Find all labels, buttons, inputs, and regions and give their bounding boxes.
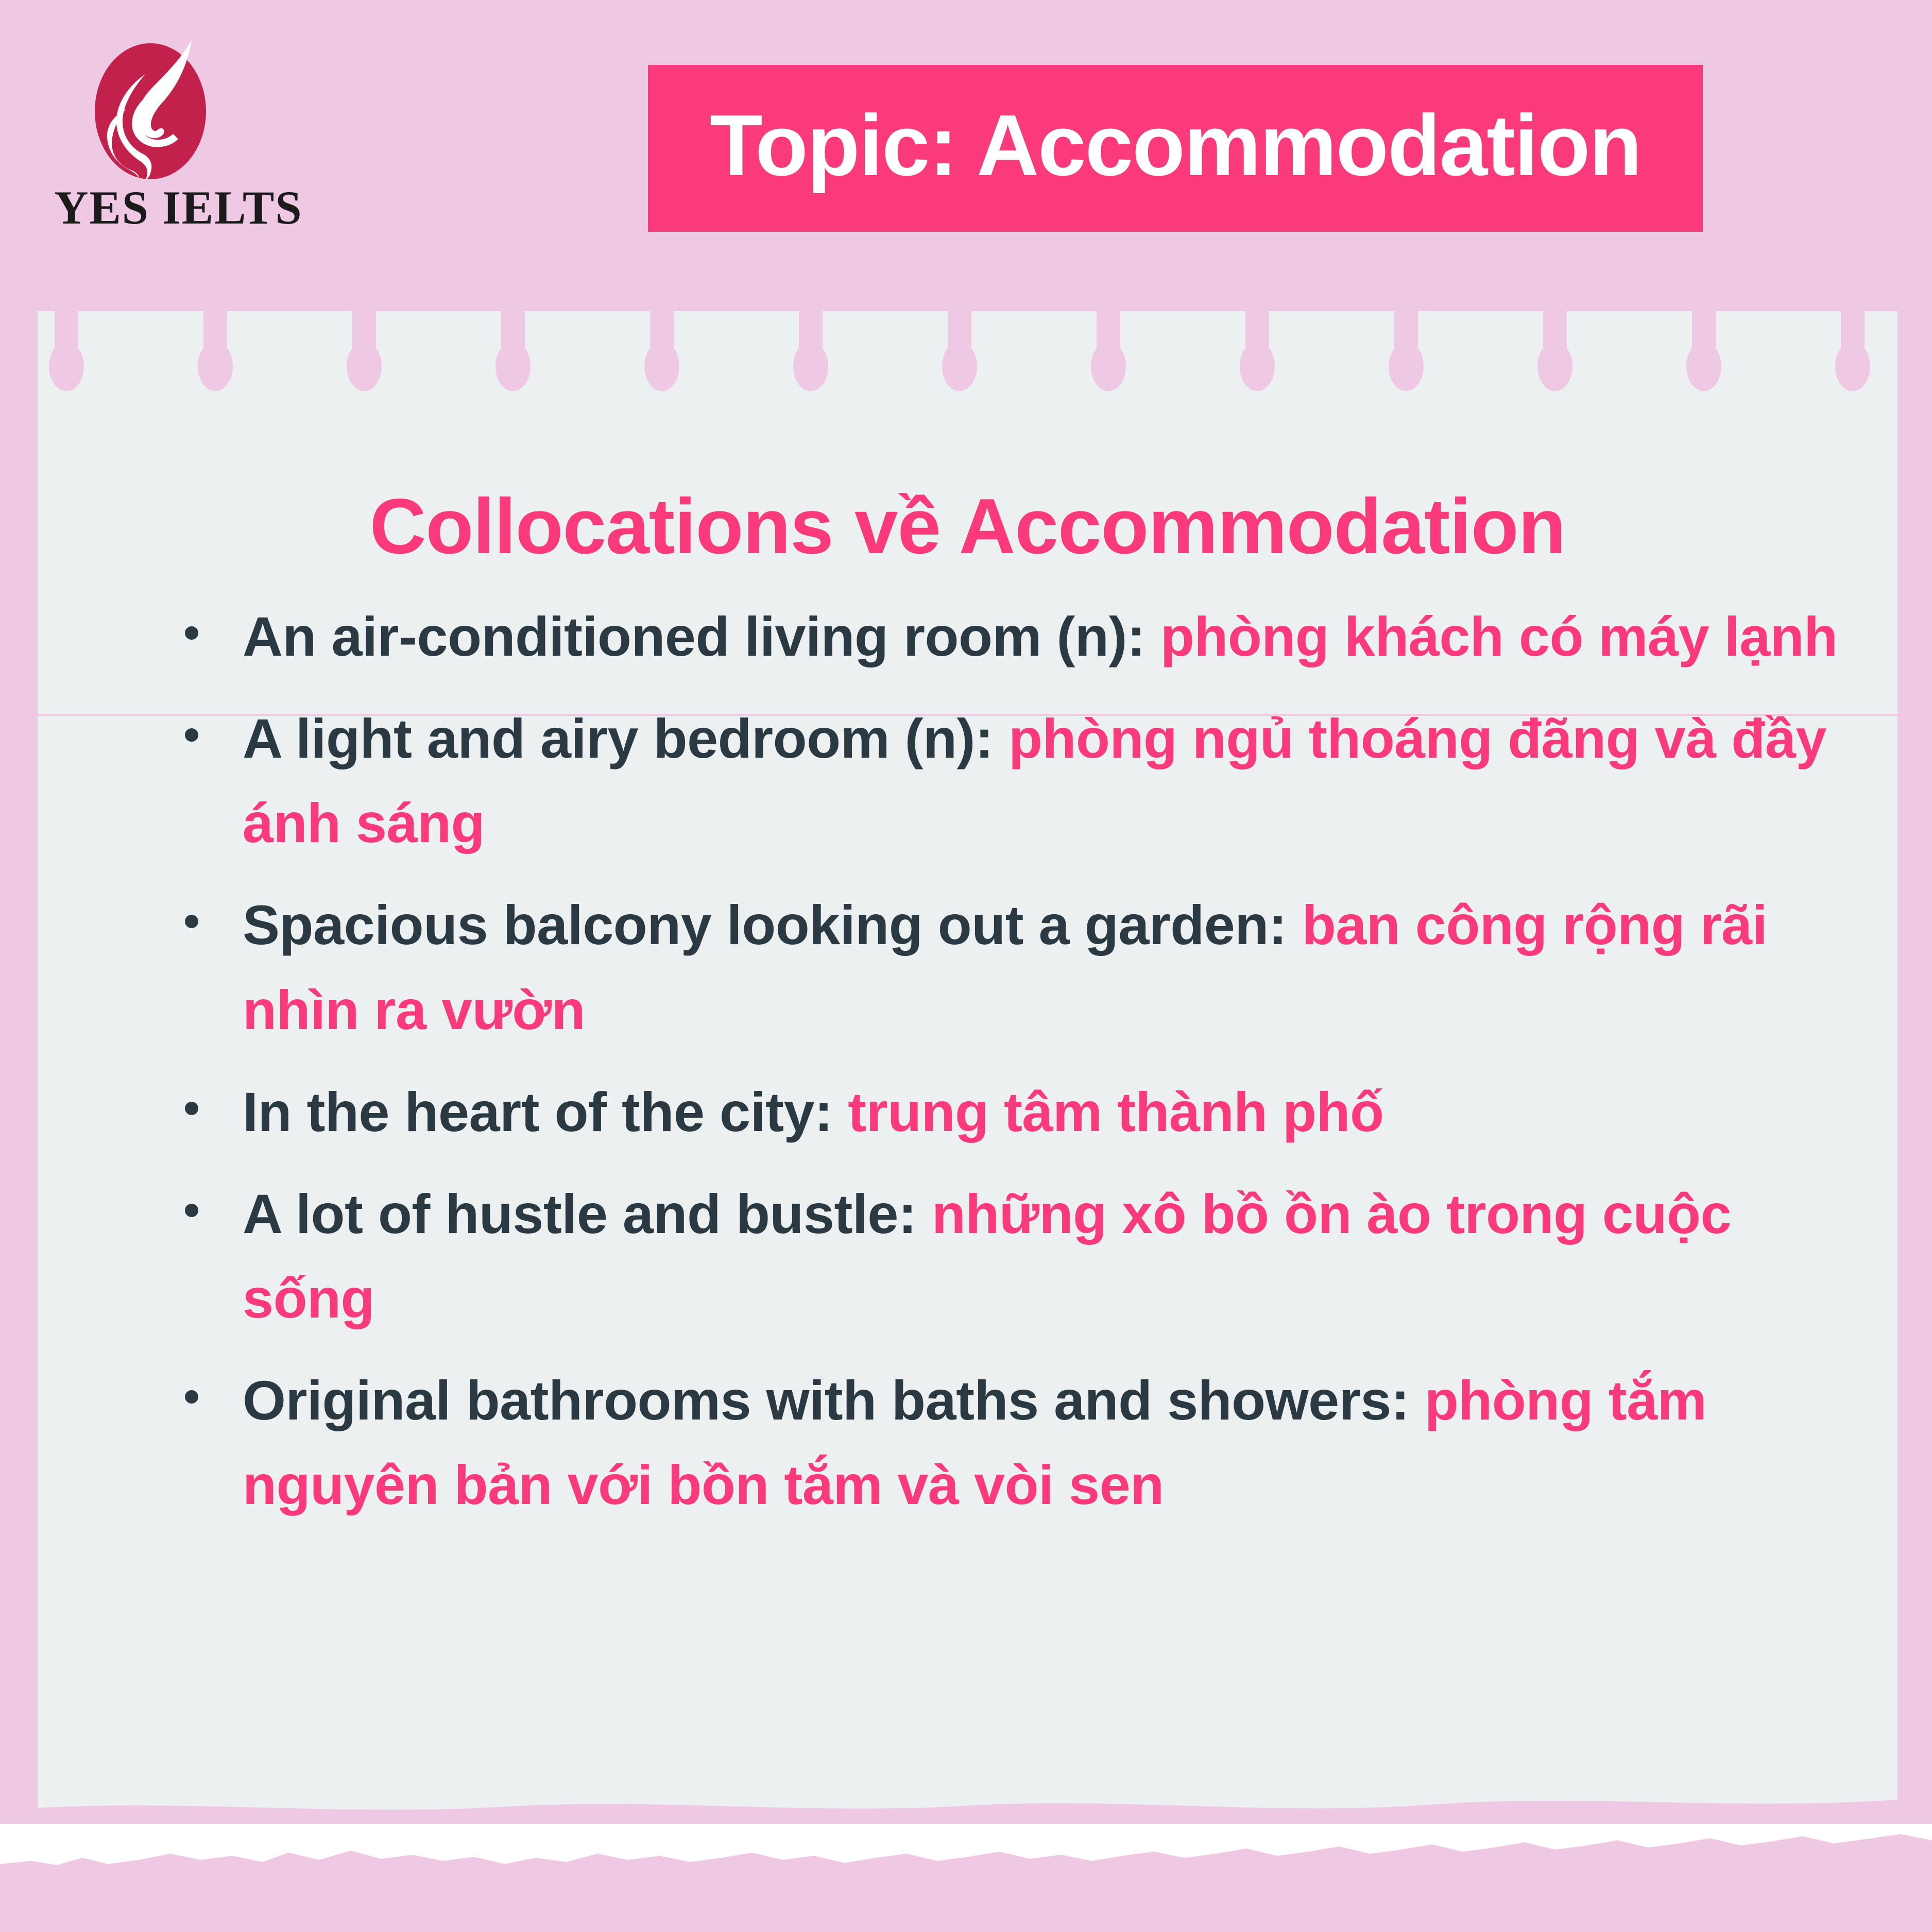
list-item: A lot of hustle and bustle: những xô bồ … <box>147 1172 1846 1341</box>
paper-content: Collocations về Accommodation An air-con… <box>38 311 1897 1836</box>
bullet-dot-icon <box>185 626 198 640</box>
collocation-en: Spacious balcony looking out a garden: <box>243 894 1302 956</box>
collocation-list: An air-conditioned living room (n): phòn… <box>147 594 1846 1545</box>
sheet-title: Collocations về Accommodation <box>38 487 1897 566</box>
list-item: In the heart of the city: trung tâm thàn… <box>147 1070 1846 1154</box>
list-item: An air-conditioned living room (n): phòn… <box>147 594 1846 679</box>
poster-canvas: YES IELTS Topic: Accommodation <box>0 0 1932 1932</box>
bullet-dot-icon <box>185 1390 198 1404</box>
collocation-en: A light and airy bedroom (n): <box>243 707 1008 770</box>
collocation-en: In the heart of the city: <box>243 1081 848 1143</box>
list-item: Spacious balcony looking out a garden: b… <box>147 883 1846 1052</box>
bullet-dot-icon <box>185 1102 198 1115</box>
topic-banner: Topic: Accommodation <box>648 65 1703 232</box>
header: YES IELTS Topic: Accommodation <box>0 0 1932 309</box>
collocation-vi: trung tâm thành phố <box>848 1081 1383 1143</box>
topic-banner-label: Topic: Accommodation <box>710 102 1641 189</box>
bullet-dot-icon <box>185 728 198 742</box>
bullet-dot-icon <box>185 1204 198 1217</box>
collocation-en: Original bathrooms with baths and shower… <box>243 1369 1425 1431</box>
torn-paper-edge <box>0 1824 1932 1932</box>
collocation-vi: phòng khách có máy lạnh <box>1160 605 1838 668</box>
notebook-paper: Collocations về Accommodation An air-con… <box>38 311 1897 1836</box>
bullet-dot-icon <box>185 915 198 928</box>
collocation-en: A lot of hustle and bustle: <box>243 1183 932 1245</box>
brand-wordmark: YES IELTS <box>54 180 270 235</box>
brand-logo[interactable]: YES IELTS <box>54 36 270 252</box>
list-item: Original bathrooms with baths and shower… <box>147 1358 1846 1527</box>
unicorn-flame-logo-icon <box>72 36 232 180</box>
collocation-en: An air-conditioned living room (n): <box>243 605 1160 668</box>
list-item: A light and airy bedroom (n): phòng ngủ … <box>147 696 1846 865</box>
